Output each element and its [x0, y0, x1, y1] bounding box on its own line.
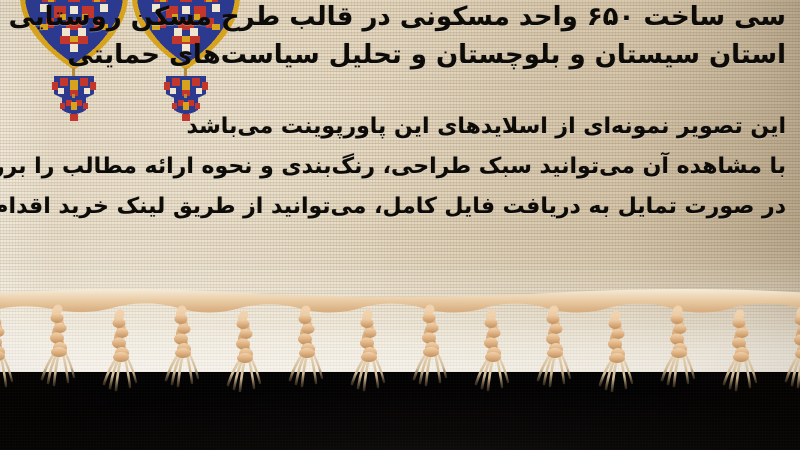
slide-body-line-2: با مشاهده آن می‌توانید سبک طراحی، رنگ‌بن… — [0, 154, 786, 179]
slide-text-block: سی ساخت ۶۵۰ واحد مسکونی در قالب طرح مسکن… — [0, 0, 800, 372]
presentation-slide: سی ساخت ۶۵۰ واحد مسکونی در قالب طرح مسکن… — [0, 0, 800, 450]
slide-body-line-1: این تصویر نمونه‌ای از اسلایدهای این پاور… — [186, 114, 786, 139]
slide-title-line-1: سی ساخت ۶۵۰ واحد مسکونی در قالب طرح مسکن… — [0, 2, 786, 32]
slide-body-line-3: در صورت تمایل به دریافت فایل کامل، می‌تو… — [0, 194, 786, 219]
slide-title-line-2: استان سیستان و بلوچستان و تحلیل سیاست‌ها… — [67, 40, 786, 70]
